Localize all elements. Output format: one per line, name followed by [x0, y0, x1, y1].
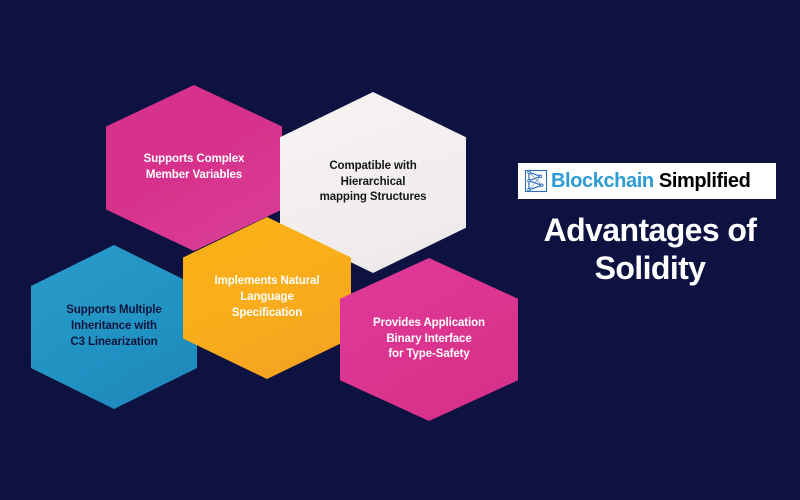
brand-name-primary: Blockchain: [551, 170, 654, 192]
blockchain-network-b-icon: [524, 169, 548, 193]
infographic-canvas: Supports Complex Member Variables Compat…: [0, 0, 800, 500]
hexagon-label: Provides Application Binary Interface fo…: [364, 316, 494, 364]
page-title: Advantages of Solidity: [505, 212, 795, 288]
brand-logo: Blockchain Simplified: [518, 163, 776, 199]
hexagon-label: Supports Multiple Inheritance with C3 Li…: [57, 303, 170, 351]
hexagon-supports-multiple-inheritance-c3-linearization: Supports Multiple Inheritance with C3 Li…: [31, 245, 197, 409]
hexagon-label: Supports Complex Member Variables: [135, 152, 254, 184]
hexagon-label: Implements Natural Language Specificatio…: [206, 274, 329, 322]
brand-name-secondary-word: Simplified: [659, 170, 751, 192]
right-panel: Blockchain Simplified Advantages of Soli…: [505, 150, 795, 350]
hexagon-provides-application-binary-interface-type-safety: Provides Application Binary Interface fo…: [340, 258, 518, 421]
hexagon-cluster: Supports Complex Member Variables Compat…: [0, 0, 530, 500]
brand-name: Blockchain Simplified: [551, 171, 750, 191]
hexagon-label: Compatible with Hierarchical mapping Str…: [311, 159, 436, 207]
